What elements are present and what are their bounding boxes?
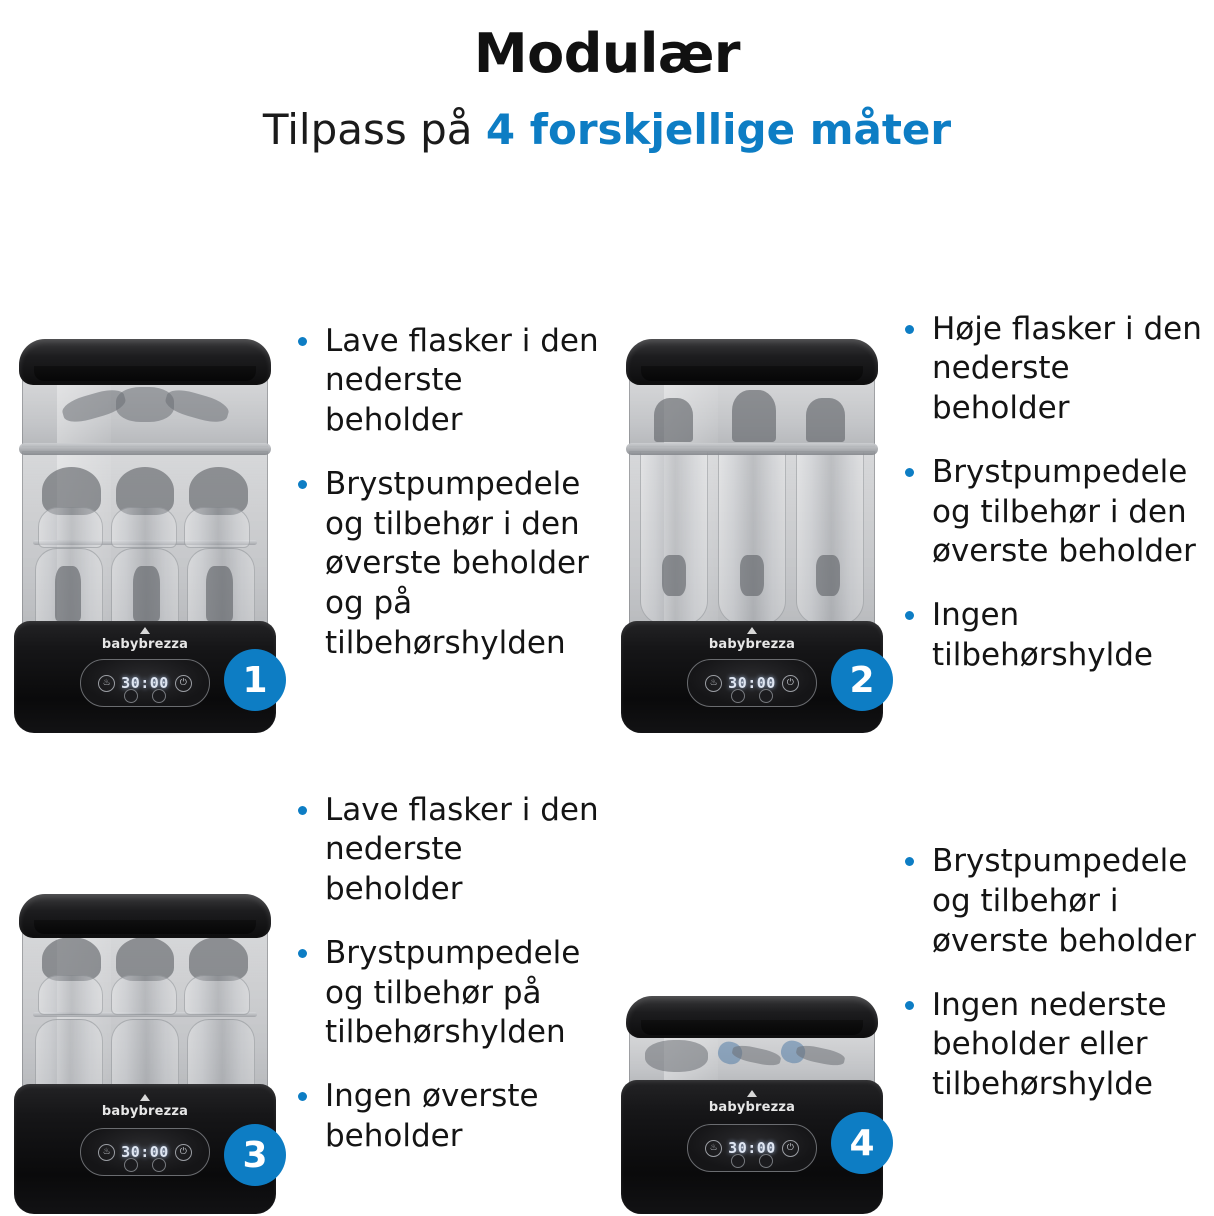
bottle-nipple xyxy=(662,555,686,595)
short-bottle xyxy=(111,975,177,1016)
tall-bottle xyxy=(640,451,708,625)
panel-buttons xyxy=(124,1158,166,1172)
power-icon[interactable]: ⏻ xyxy=(175,675,192,692)
bullet-item: Lave flasker i den nederste beholder xyxy=(298,791,607,910)
bottle-nipple xyxy=(206,566,233,621)
bottle-nipple xyxy=(654,398,693,441)
bullet-dot-icon xyxy=(298,949,307,958)
configuration-card-2: babybrezza ♨ 30:00 ⏻ 2 xyxy=(607,252,1214,733)
bullet-text: Brystpumpedele og tilbehør i den øverste… xyxy=(325,465,607,663)
device-lid xyxy=(626,996,878,1038)
product-image-3: babybrezza ♨ 30:00 ⏻ 3 xyxy=(0,733,290,1214)
control-panel[interactable]: ♨ 30:00 ⏻ xyxy=(80,659,210,707)
bullet-text: Ingen nederste beholder eller tilbehørsh… xyxy=(932,986,1214,1105)
pump-part xyxy=(162,386,230,427)
short-bottle xyxy=(184,507,250,547)
short-bottle xyxy=(111,507,177,547)
tall-bottle xyxy=(796,451,864,625)
lower-chamber xyxy=(22,451,268,637)
bullet-text: Lave flasker i den nederste beholder xyxy=(325,791,607,910)
minus-button[interactable] xyxy=(731,1154,745,1168)
step-badge-3: 3 xyxy=(224,1124,286,1186)
plus-button[interactable] xyxy=(759,1154,773,1168)
bullet-dot-icon xyxy=(298,1092,307,1101)
configuration-card-4: babybrezza ♨ 30:00 ⏻ 4 xyxy=(607,733,1214,1214)
product-image-2: babybrezza ♨ 30:00 ⏻ 2 xyxy=(607,252,897,733)
pump-part xyxy=(731,1043,782,1067)
bottle-nipple xyxy=(133,566,160,621)
plus-button[interactable] xyxy=(152,1158,166,1172)
bullet-text: Brystpumpedele og tilbehør på tilbehørsh… xyxy=(325,934,607,1053)
steam-icon[interactable]: ♨ xyxy=(705,1140,722,1157)
bottle-nipple xyxy=(806,398,845,441)
brand-marker-icon xyxy=(747,627,757,634)
pump-part xyxy=(795,1043,846,1067)
page-subtitle: Tilpass på 4 forskjellige måter xyxy=(0,107,1214,153)
minus-button[interactable] xyxy=(731,689,745,703)
bullet-dot-icon xyxy=(298,806,307,815)
tall-bottle xyxy=(718,451,786,625)
bullet-item: Lave flasker i den nederste beholder xyxy=(298,322,607,441)
bullet-dot-icon xyxy=(298,480,307,489)
control-panel[interactable]: ♨ 30:00 ⏻ xyxy=(687,659,817,707)
brand-marker-icon xyxy=(140,627,150,634)
step-badge-1: 1 xyxy=(224,649,286,711)
short-bottle xyxy=(111,1019,179,1094)
bullet-text: Ingen øverste beholder xyxy=(325,1077,607,1156)
page-title: Modulær xyxy=(0,26,1214,83)
bullet-item: Brystpumpedele og tilbehør i øverste beh… xyxy=(905,842,1214,961)
bullet-text: Lave flasker i den nederste beholder xyxy=(325,322,607,441)
chamber-divider xyxy=(19,443,271,455)
panel-buttons xyxy=(731,1154,773,1168)
short-bottle xyxy=(35,1019,103,1094)
pump-part xyxy=(645,1040,709,1071)
brand-logo: babybrezza xyxy=(102,1104,188,1119)
power-icon[interactable]: ⏻ xyxy=(175,1144,192,1161)
steam-icon[interactable]: ♨ xyxy=(98,1144,115,1161)
bullet-list-1: Lave flasker i den nederste beholder Bry… xyxy=(290,322,607,663)
step-badge-4: 4 xyxy=(831,1112,893,1174)
power-icon[interactable]: ⏻ xyxy=(782,675,799,692)
bullet-dot-icon xyxy=(905,611,914,620)
minus-button[interactable] xyxy=(124,689,138,703)
brand-logo: babybrezza xyxy=(102,637,188,652)
configuration-card-1: babybrezza ♨ 30:00 ⏻ 1 xyxy=(0,252,607,733)
plus-button[interactable] xyxy=(759,689,773,703)
bullet-list-2: Høje flasker i den nederste beholder Bry… xyxy=(897,310,1214,675)
device-lid xyxy=(626,339,878,385)
configuration-card-3: babybrezza ♨ 30:00 ⏻ 3 xyxy=(0,733,607,1214)
brand-marker-icon xyxy=(747,1090,757,1097)
bottle-nipple xyxy=(732,390,776,442)
bullet-list-3: Lave flasker i den nederste beholder Bry… xyxy=(290,791,607,1156)
bullet-item: Brystpumpedele og tilbehør i den øverste… xyxy=(905,453,1214,572)
sterilizer-device-4: babybrezza ♨ 30:00 ⏻ xyxy=(621,996,883,1214)
minus-button[interactable] xyxy=(124,1158,138,1172)
power-icon[interactable]: ⏻ xyxy=(782,1140,799,1157)
control-panel[interactable]: ♨ 30:00 ⏻ xyxy=(687,1124,817,1172)
bottle-nipple xyxy=(740,555,764,595)
bullet-item: Brystpumpedele og tilbehør i den øverste… xyxy=(298,465,607,663)
bullet-item: Ingen øverste beholder xyxy=(298,1077,607,1156)
pump-part xyxy=(116,387,175,422)
bottle-nipple xyxy=(816,555,840,595)
product-image-1: babybrezza ♨ 30:00 ⏻ 1 xyxy=(0,252,290,733)
bullet-text: Brystpumpedele og tilbehør i øverste beh… xyxy=(932,842,1214,961)
device-lid xyxy=(19,339,271,385)
short-bottle xyxy=(38,507,104,547)
bullet-item: Ingen tilbehørshylde xyxy=(905,596,1214,675)
short-bottle xyxy=(38,975,104,1016)
bullet-text: Ingen tilbehørshylde xyxy=(932,596,1214,675)
chamber-divider xyxy=(626,443,878,455)
bullet-item: Høje flasker i den nederste beholder xyxy=(905,310,1214,429)
bullet-dot-icon xyxy=(298,337,307,346)
brand-marker-icon xyxy=(140,1094,150,1101)
bullet-item: Ingen nederste beholder eller tilbehørsh… xyxy=(905,986,1214,1105)
subtitle-prefix: Tilpass på xyxy=(263,105,486,154)
brand-logo: babybrezza xyxy=(709,1100,795,1115)
lower-chamber xyxy=(22,926,268,1098)
page-header: Modulær Tilpass på 4 forskjellige måter xyxy=(0,0,1214,153)
brand-logo: babybrezza xyxy=(709,637,795,652)
bullet-item: Brystpumpedele og tilbehør på tilbehørsh… xyxy=(298,934,607,1053)
steam-icon[interactable]: ♨ xyxy=(98,675,115,692)
control-panel[interactable]: ♨ 30:00 ⏻ xyxy=(80,1128,210,1176)
bullet-dot-icon xyxy=(905,857,914,866)
lower-chamber xyxy=(629,451,875,637)
device-lid xyxy=(19,894,271,938)
bullet-dot-icon xyxy=(905,1001,914,1010)
bottle-nipple xyxy=(55,566,82,621)
panel-buttons xyxy=(124,689,166,703)
subtitle-accent: 4 forskjellige måter xyxy=(486,105,951,154)
bullet-list-4: Brystpumpedele og tilbehør i øverste beh… xyxy=(897,842,1214,1104)
step-badge-2: 2 xyxy=(831,649,893,711)
steam-icon[interactable]: ♨ xyxy=(705,675,722,692)
plus-button[interactable] xyxy=(152,689,166,703)
bullet-text: Brystpumpedele og tilbehør i den øverste… xyxy=(932,453,1214,572)
bullet-dot-icon xyxy=(905,468,914,477)
product-image-4: babybrezza ♨ 30:00 ⏻ 4 xyxy=(607,733,897,1214)
bullet-text: Høje flasker i den nederste beholder xyxy=(932,310,1214,429)
short-bottle xyxy=(184,975,250,1016)
bullet-dot-icon xyxy=(905,325,914,334)
configurations-grid: babybrezza ♨ 30:00 ⏻ 1 xyxy=(0,252,1214,1214)
short-bottle xyxy=(187,1019,255,1094)
panel-buttons xyxy=(731,689,773,703)
